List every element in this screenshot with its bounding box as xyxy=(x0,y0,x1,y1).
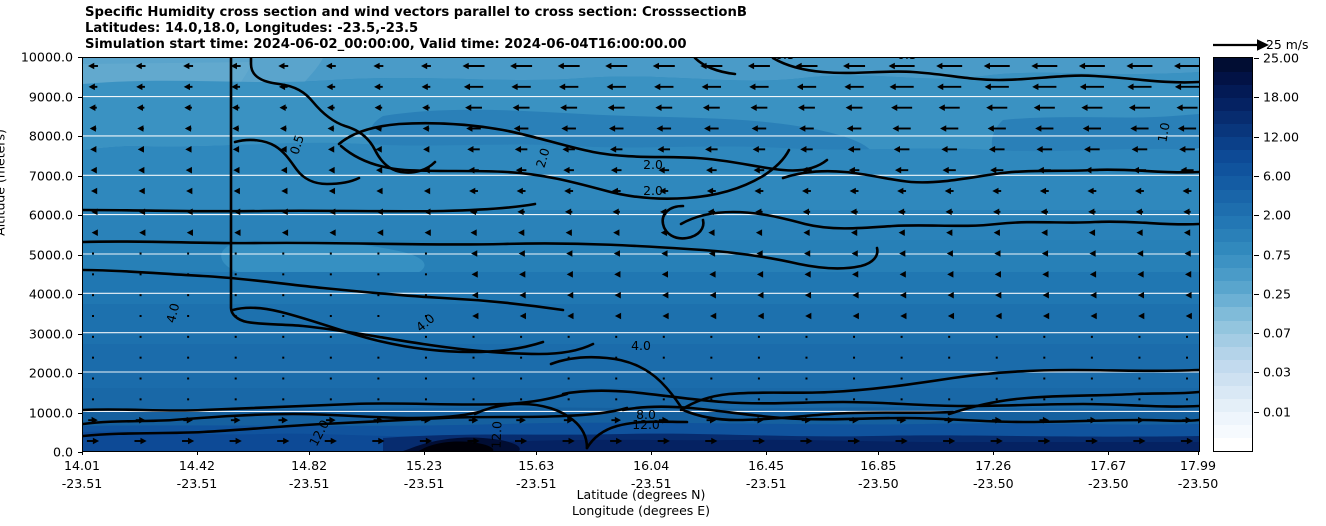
wind-vector-dot xyxy=(520,378,522,380)
wind-vector-dot xyxy=(758,398,760,400)
wind-vector-dot xyxy=(330,336,332,338)
plot-area: 0.50.50.51.02.02.02.04.04.04.08.012.012.… xyxy=(82,57,1200,452)
y-tick-mark xyxy=(78,57,82,58)
x-tick-label-latitude: 16.04 xyxy=(633,458,669,473)
wind-vector-dot xyxy=(140,294,142,296)
wind-vector-dot xyxy=(92,253,94,255)
colorbar-segment xyxy=(1214,412,1252,426)
wind-vector-dot xyxy=(187,357,189,359)
wind-vector-dot xyxy=(92,294,94,296)
wind-vector-dot xyxy=(1043,336,1045,338)
wind-vector-dot xyxy=(187,315,189,317)
wind-vector-dot xyxy=(520,357,522,359)
wind-vector-dot xyxy=(282,253,284,255)
wind-vector-dot xyxy=(330,378,332,380)
wind-vector-dot xyxy=(1138,357,1140,359)
x-tick-label-longitude: -23.51 xyxy=(177,476,218,491)
colorbar-tick-label: 6.00 xyxy=(1263,168,1291,183)
wind-vector-dot xyxy=(568,336,570,338)
wind-vector-dot xyxy=(235,357,237,359)
wind-vector-dot xyxy=(282,357,284,359)
figure-canvas: Specific Humidity cross section and wind… xyxy=(0,0,1326,526)
x-tick-label-longitude: -23.51 xyxy=(516,476,557,491)
colorbar-tick-mark xyxy=(1254,58,1259,59)
wind-vector-dot xyxy=(330,294,332,296)
colorbar-tick-label: 12.00 xyxy=(1263,129,1299,144)
y-tick-label: 10000.0 xyxy=(0,50,73,65)
wind-vector-dot xyxy=(282,315,284,317)
wind-vector-dot xyxy=(710,357,712,359)
y-tick-mark xyxy=(78,97,82,98)
colorbar-segment xyxy=(1214,110,1252,124)
wind-vector-dot xyxy=(425,398,427,400)
wind-vector-dot xyxy=(520,398,522,400)
y-tick-mark xyxy=(78,294,82,295)
figure-title: Specific Humidity cross section and wind… xyxy=(85,5,747,54)
colorbar-segment xyxy=(1214,294,1252,308)
colorbar-tick-mark xyxy=(1254,333,1259,334)
x-tick-label-latitude: 14.01 xyxy=(64,458,100,473)
wind-vector-dot xyxy=(330,398,332,400)
y-tick-label: 3000.0 xyxy=(0,326,73,341)
wind-vector-dot xyxy=(92,315,94,317)
wind-vector-dot xyxy=(92,273,94,275)
wind-vector-dot xyxy=(615,378,617,380)
wind-vector-dot xyxy=(1138,398,1140,400)
wind-vector-dot xyxy=(901,357,903,359)
y-tick-mark xyxy=(78,334,82,335)
colorbar-segment xyxy=(1214,215,1252,229)
wind-vector-dot xyxy=(901,378,903,380)
wind-vector-dot xyxy=(377,273,379,275)
colorbar-segment xyxy=(1214,268,1252,282)
wind-vector-dot xyxy=(758,378,760,380)
wind-vector-dot xyxy=(235,398,237,400)
colorbar-tick-label: 0.03 xyxy=(1263,365,1291,380)
colorbar-segment xyxy=(1214,71,1252,85)
wind-vector-dot xyxy=(1186,378,1188,380)
colorbar-segment xyxy=(1214,228,1252,242)
x-tick-label-latitude: 14.82 xyxy=(291,458,327,473)
x-tick-label-longitude: -23.50 xyxy=(1178,476,1219,491)
y-tick-label: 9000.0 xyxy=(0,89,73,104)
title-line-1: Specific Humidity cross section and wind… xyxy=(85,5,747,21)
wind-vector-dot xyxy=(663,336,665,338)
wind-vector-dot xyxy=(805,336,807,338)
colorbar-segment xyxy=(1214,84,1252,98)
x-tick-label-latitude: 17.67 xyxy=(1090,458,1126,473)
wind-vector-dot xyxy=(473,357,475,359)
wind-vector-dot xyxy=(235,336,237,338)
wind-vector-dot xyxy=(282,398,284,400)
x-tick-label-latitude: 14.42 xyxy=(179,458,215,473)
y-tick-label: 0.0 xyxy=(0,445,73,460)
colorbar-segment xyxy=(1214,425,1252,439)
x-tick-label-latitude: 15.63 xyxy=(518,458,554,473)
x-tick-mark xyxy=(424,451,425,455)
colorbar-segment xyxy=(1214,438,1252,452)
wind-vector-dot xyxy=(996,336,998,338)
wind-vector-dot xyxy=(710,398,712,400)
colorbar-tick-mark xyxy=(1254,412,1259,413)
colorbar-segment xyxy=(1214,333,1252,347)
x-tick-label-longitude: -23.50 xyxy=(1088,476,1129,491)
wind-vector-dot xyxy=(853,336,855,338)
colorbar-segment xyxy=(1214,189,1252,203)
x-tick-mark xyxy=(309,451,310,455)
wind-vector-dot xyxy=(187,398,189,400)
wind-vector-dot xyxy=(235,253,237,255)
colorbar-segment xyxy=(1214,124,1252,138)
wind-vector-dot xyxy=(1186,357,1188,359)
x-tick-label-latitude: 17.26 xyxy=(975,458,1011,473)
x-tick-label-latitude: 16.45 xyxy=(748,458,784,473)
x-tick-mark xyxy=(197,451,198,455)
wind-vector-dot xyxy=(282,378,284,380)
right-arrow-icon xyxy=(1211,36,1271,54)
colorbar-tick-mark xyxy=(1254,294,1259,295)
wind-vector-dot xyxy=(1043,378,1045,380)
wind-vector-dot xyxy=(948,336,950,338)
colorbar-segment xyxy=(1214,176,1252,190)
wind-vector-dot xyxy=(1186,336,1188,338)
wind-vector-dot xyxy=(377,294,379,296)
wind-vector-dot xyxy=(710,378,712,380)
colorbar-segment xyxy=(1214,386,1252,400)
wind-vector-dot xyxy=(1091,398,1093,400)
colorbar[interactable] xyxy=(1213,57,1253,452)
wind-vector-dot xyxy=(473,336,475,338)
y-tick-label: 4000.0 xyxy=(0,287,73,302)
colorbar-segment xyxy=(1214,137,1252,151)
wind-vector-dot xyxy=(187,253,189,255)
wind-vector-dot xyxy=(901,398,903,400)
x-tick-mark xyxy=(651,451,652,455)
wind-vector-dot xyxy=(377,378,379,380)
wind-vector-dot xyxy=(1138,378,1140,380)
wind-vector-dot xyxy=(92,336,94,338)
colorbar-segment xyxy=(1214,202,1252,216)
wind-vector-dot xyxy=(377,398,379,400)
wind-vector-dot xyxy=(92,357,94,359)
wind-vector-dot xyxy=(853,378,855,380)
wind-vector-dot xyxy=(235,315,237,317)
wind-vector-dot xyxy=(758,357,760,359)
wind-vector-dot xyxy=(948,398,950,400)
wind-vector-dot xyxy=(377,357,379,359)
colorbar-tick-label: 0.07 xyxy=(1263,326,1291,341)
wind-vector-dot xyxy=(377,253,379,255)
wind-vector-dot xyxy=(140,315,142,317)
wind-vector-dot xyxy=(1138,336,1140,338)
colorbar-segment xyxy=(1214,97,1252,111)
y-tick-label: 6000.0 xyxy=(0,208,73,223)
x-axis-label-latitude: Latitude (degrees N) xyxy=(577,487,706,502)
wind-vector-dot xyxy=(330,273,332,275)
y-tick-label: 2000.0 xyxy=(0,366,73,381)
colorbar-segment xyxy=(1214,307,1252,321)
colorbar-segment xyxy=(1214,346,1252,360)
colorbar-tick-label: 0.01 xyxy=(1263,404,1291,419)
wind-vector-dot xyxy=(235,273,237,275)
colorbar-segment xyxy=(1214,58,1252,72)
colorbar-segment xyxy=(1214,255,1252,269)
wind-vector-dot xyxy=(425,294,427,296)
wind-vector-dot xyxy=(140,378,142,380)
wind-vector-dot xyxy=(996,398,998,400)
wind-vector-dot xyxy=(473,398,475,400)
wind-vector-dot xyxy=(805,398,807,400)
y-tick-label: 8000.0 xyxy=(0,129,73,144)
wind-vector-dot xyxy=(1091,378,1093,380)
colorbar-segment xyxy=(1214,163,1252,177)
y-axis-label: Altitude (meters) xyxy=(0,83,8,283)
wind-vector-dot xyxy=(425,315,427,317)
colorbar-tick-mark xyxy=(1254,176,1259,177)
wind-vector-dot xyxy=(140,253,142,255)
x-tick-mark xyxy=(766,451,767,455)
wind-vector-dot xyxy=(92,398,94,400)
wind-vector-dot xyxy=(377,336,379,338)
wind-vector-dot xyxy=(235,378,237,380)
colorbar-tick-mark xyxy=(1254,215,1259,216)
x-tick-label-longitude: -23.51 xyxy=(404,476,445,491)
colorbar-tick-label: 0.25 xyxy=(1263,286,1291,301)
y-tick-mark xyxy=(78,373,82,374)
x-tick-mark xyxy=(1108,451,1109,455)
y-tick-label: 1000.0 xyxy=(0,405,73,420)
colorbar-tick-label: 2.00 xyxy=(1263,208,1291,223)
x-tick-mark xyxy=(82,451,83,455)
x-tick-label-latitude: 16.85 xyxy=(860,458,896,473)
wind-vector-dot xyxy=(663,357,665,359)
wind-vector-dot xyxy=(140,336,142,338)
wind-vector-dot xyxy=(568,378,570,380)
wind-vector-dot xyxy=(615,357,617,359)
x-tick-label-longitude: -23.51 xyxy=(62,476,103,491)
colorbar-tick-mark xyxy=(1254,255,1259,256)
wind-vector-dot xyxy=(92,378,94,380)
cross-section-plot xyxy=(83,58,1199,451)
colorbar-segment xyxy=(1214,399,1252,413)
wind-vector-dot xyxy=(330,315,332,317)
y-tick-mark xyxy=(78,176,82,177)
y-tick-mark xyxy=(78,136,82,137)
wind-vector-dot xyxy=(187,294,189,296)
wind-vector-dot xyxy=(996,357,998,359)
wind-vector-dot xyxy=(996,378,998,380)
y-tick-label: 5000.0 xyxy=(0,247,73,262)
wind-vector-dot xyxy=(425,357,427,359)
wind-vector-dot xyxy=(187,273,189,275)
wind-vector-dot xyxy=(615,398,617,400)
wind-vector-dot xyxy=(615,336,617,338)
wind-vector-dot xyxy=(568,398,570,400)
wind-vector-dot xyxy=(710,336,712,338)
colorbar-segment xyxy=(1214,150,1252,164)
y-tick-mark xyxy=(78,215,82,216)
colorbar-tick-mark xyxy=(1254,97,1259,98)
x-tick-label-longitude: -23.51 xyxy=(746,476,787,491)
wind-vector-dot xyxy=(805,378,807,380)
wind-vector-dot xyxy=(568,357,570,359)
wind-vector-dot xyxy=(330,357,332,359)
wind-vector-dot xyxy=(282,336,284,338)
colorbar-segment xyxy=(1214,372,1252,386)
wind-vector-dot xyxy=(901,336,903,338)
y-tick-mark xyxy=(78,413,82,414)
x-tick-label-longitude: -23.51 xyxy=(289,476,330,491)
colorbar-tick-label: 18.00 xyxy=(1263,90,1299,105)
wind-vector-dot xyxy=(663,398,665,400)
wind-vector-dot xyxy=(853,398,855,400)
colorbar-tick-label: 0.75 xyxy=(1263,247,1291,262)
wind-vector-dot xyxy=(140,357,142,359)
x-tick-label-longitude: -23.50 xyxy=(858,476,899,491)
wind-vector-dot xyxy=(805,357,807,359)
x-tick-label-longitude: -23.50 xyxy=(973,476,1014,491)
x-tick-mark xyxy=(878,451,879,455)
wind-vector-dot xyxy=(235,294,237,296)
wind-vector-dot xyxy=(520,336,522,338)
colorbar-tick-mark xyxy=(1254,372,1259,373)
wind-vector-dot xyxy=(425,253,427,255)
wind-vector-dot xyxy=(1043,357,1045,359)
wind-vector-dot xyxy=(1043,398,1045,400)
colorbar-tick-mark xyxy=(1254,137,1259,138)
wind-vector-dot xyxy=(282,294,284,296)
wind-vector-dot xyxy=(758,336,760,338)
y-tick-label: 7000.0 xyxy=(0,168,73,183)
x-tick-label-latitude: 15.23 xyxy=(406,458,442,473)
wind-vector-dot xyxy=(1186,398,1188,400)
wind-vector-dot xyxy=(425,378,427,380)
wind-vector-dot xyxy=(473,378,475,380)
x-tick-mark xyxy=(1198,451,1199,455)
wind-vector-dot xyxy=(187,378,189,380)
x-tick-mark xyxy=(536,451,537,455)
x-tick-label-latitude: 17.99 xyxy=(1180,458,1216,473)
title-line-3: Simulation start time: 2024-06-02_00:00:… xyxy=(85,37,747,53)
colorbar-tick-label: 25.00 xyxy=(1263,51,1299,66)
x-tick-mark xyxy=(993,451,994,455)
colorbar-segment xyxy=(1214,241,1252,255)
wind-vector-dot xyxy=(377,315,379,317)
wind-vector-dot xyxy=(425,336,427,338)
colorbar-segment xyxy=(1214,320,1252,334)
wind-vector-dot xyxy=(853,357,855,359)
wind-vector-dot xyxy=(1091,336,1093,338)
wind-vector-dot xyxy=(663,378,665,380)
title-line-2: Latitudes: 14.0,18.0, Longitudes: -23.5,… xyxy=(85,21,747,37)
wind-vector-dot xyxy=(282,273,284,275)
wind-vector-dot xyxy=(140,273,142,275)
wind-vector-dot xyxy=(140,398,142,400)
wind-vector-dot xyxy=(948,357,950,359)
wind-vector-dot xyxy=(187,336,189,338)
colorbar-segment xyxy=(1214,281,1252,295)
wind-vector-dot xyxy=(948,378,950,380)
wind-vector-dot xyxy=(330,253,332,255)
x-axis-label-longitude: Longitude (degrees E) xyxy=(572,503,710,518)
wind-vector-dot xyxy=(1091,357,1093,359)
y-tick-mark xyxy=(78,255,82,256)
colorbar-segment xyxy=(1214,359,1252,373)
wind-vector-dot xyxy=(425,273,427,275)
